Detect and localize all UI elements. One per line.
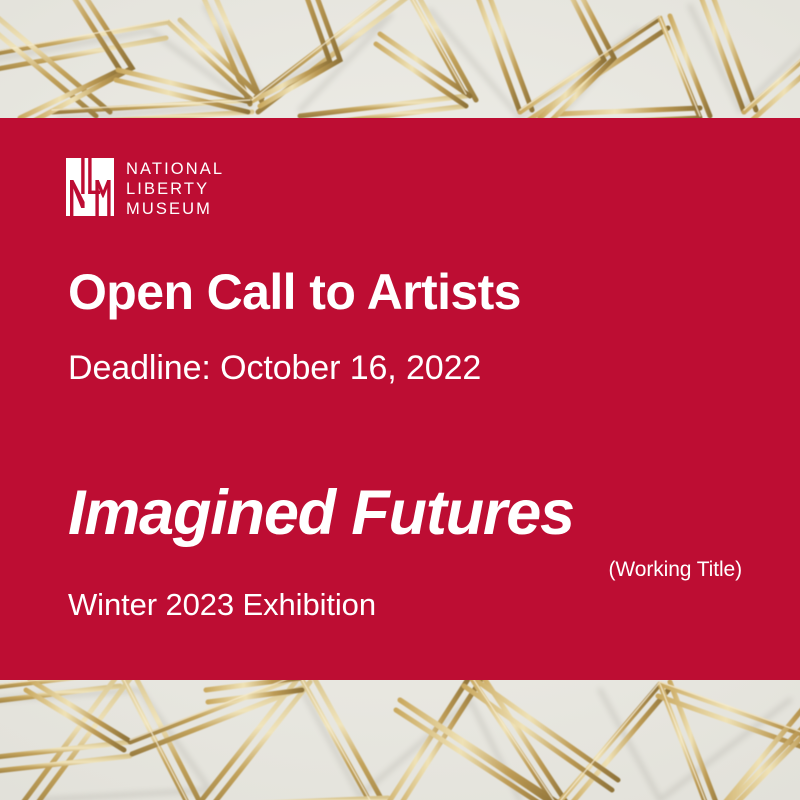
- deadline-text: Deadline: October 16, 2022: [68, 350, 481, 387]
- exhibition-title: Imagined Futures: [68, 481, 574, 545]
- museum-name-wordmark: NATIONAL LIBERTY MUSEUM: [126, 158, 224, 219]
- museum-logo-lockup[interactable]: NATIONAL LIBERTY MUSEUM: [66, 158, 224, 219]
- logo-line-1: NATIONAL: [126, 159, 224, 179]
- logo-line-2: LIBERTY: [126, 179, 224, 199]
- nlm-monogram-icon: [66, 158, 114, 216]
- exhibition-season: Winter 2023 Exhibition: [68, 588, 376, 622]
- logo-line-3: MUSEUM: [126, 199, 224, 219]
- headline-open-call: Open Call to Artists: [68, 266, 521, 319]
- working-title-note: (Working Title): [0, 558, 742, 582]
- open-call-poster: NATIONAL LIBERTY MUSEUM Open Call to Art…: [0, 0, 800, 800]
